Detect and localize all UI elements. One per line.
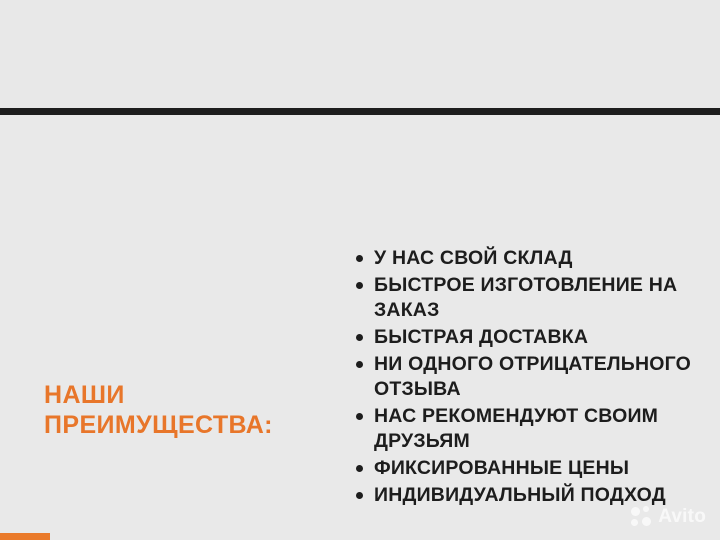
bullet-icon [356, 404, 374, 420]
bullet-icon [356, 352, 374, 368]
bullet-icon [356, 273, 374, 289]
list-item-label: ИНДИВИДУАЛЬНЫЙ ПОДХОД [374, 483, 706, 508]
bullet-icon [356, 456, 374, 472]
list-item: НАС РЕКОМЕНДУЮТ СВОИМ ДРУЗЬЯМ [356, 404, 706, 454]
slide: НАШИ ПРЕИМУЩЕСТВА: У НАС СВОЙ СКЛАД БЫСТ… [0, 0, 720, 540]
title-line-1: НАШИ [44, 380, 344, 410]
title-line-2: ПРЕИМУЩЕСТВА: [44, 410, 344, 440]
avito-logo-icon [631, 506, 653, 528]
list-item: У НАС СВОЙ СКЛАД [356, 246, 706, 271]
list-item: БЫСТРОЕ ИЗГОТОВЛЕНИЕ НА ЗАКАЗ [356, 273, 706, 323]
advantages-list: У НАС СВОЙ СКЛАД БЫСТРОЕ ИЗГОТОВЛЕНИЕ НА… [356, 246, 706, 510]
list-item-label: ФИКСИРОВАННЫЕ ЦЕНЫ [374, 456, 706, 481]
list-item: НИ ОДНОГО ОТРИЦАТЕЛЬНОГО ОТЗЫВА [356, 352, 706, 402]
page-title: НАШИ ПРЕИМУЩЕСТВА: [44, 380, 344, 440]
avito-watermark: Avito [631, 506, 706, 528]
list-item: ИНДИВИДУАЛЬНЫЙ ПОДХОД [356, 483, 706, 508]
list-item-label: БЫСТРАЯ ДОСТАВКА [374, 325, 706, 350]
header-band [0, 0, 720, 108]
list-item: БЫСТРАЯ ДОСТАВКА [356, 325, 706, 350]
avito-watermark-label: Avito [658, 506, 706, 528]
list-item-label: У НАС СВОЙ СКЛАД [374, 246, 706, 271]
bullet-icon [356, 325, 374, 341]
slide-body: НАШИ ПРЕИМУЩЕСТВА: У НАС СВОЙ СКЛАД БЫСТ… [0, 115, 720, 540]
list-item-label: БЫСТРОЕ ИЗГОТОВЛЕНИЕ НА ЗАКАЗ [374, 273, 706, 323]
list-item-label: НИ ОДНОГО ОТРИЦАТЕЛЬНОГО ОТЗЫВА [374, 352, 706, 402]
bullet-icon [356, 246, 374, 262]
header-divider [0, 108, 720, 115]
list-item-label: НАС РЕКОМЕНДУЮТ СВОИМ ДРУЗЬЯМ [374, 404, 706, 454]
next-slide-button[interactable] [0, 533, 50, 540]
list-item: ФИКСИРОВАННЫЕ ЦЕНЫ [356, 456, 706, 481]
bullet-icon [356, 483, 374, 499]
